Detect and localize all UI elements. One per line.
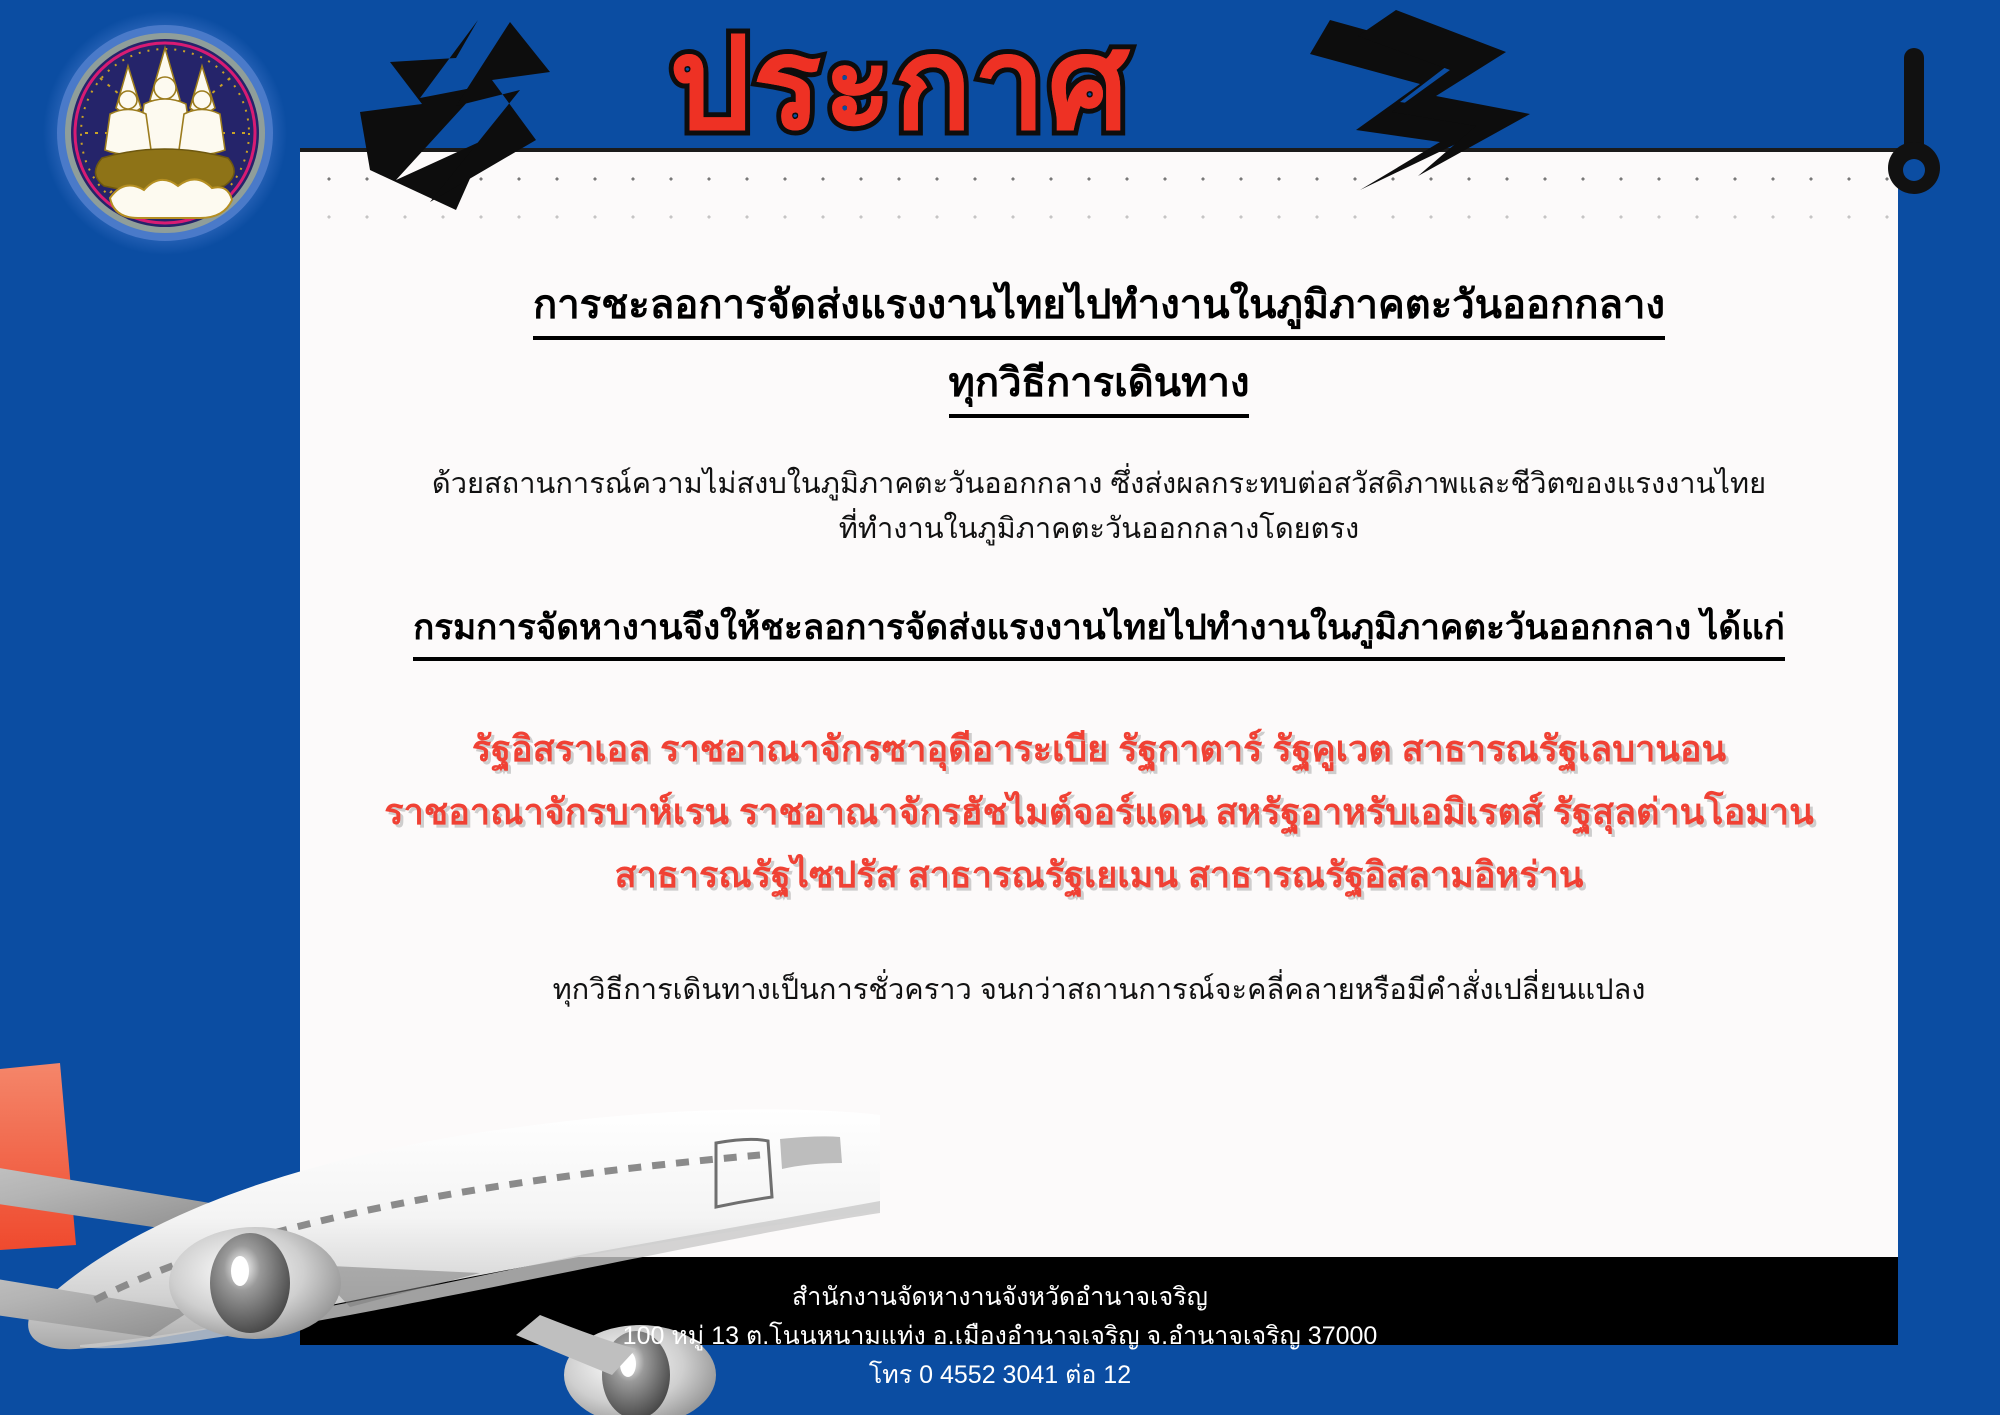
- intro-paragraph: ด้วยสถานการณ์ความไม่สงบในภูมิภาคตะวันออก…: [300, 462, 1898, 552]
- footer-address: 100 หมู่ 13 ต.โนนหนามแท่ง อ.เมืองอำนาจเจ…: [0, 1317, 2000, 1356]
- footer-contact: สำนักงานจัดหางานจังหวัดอำนาจเจริญ 100 หม…: [0, 1278, 2000, 1394]
- intro-paragraph-line-1: ด้วยสถานการณ์ความไม่สงบในภูมิภาคตะวันออก…: [300, 462, 1898, 507]
- subheading: กรมการจัดหางานจึงให้ชะลอการจัดส่งแรงงานไ…: [300, 600, 1898, 661]
- countries-line-3: สาธารณรัฐไซปรัส สาธารณรัฐเยเมน สาธารณรัฐ…: [300, 843, 1898, 906]
- countries-line-2: ราชอาณาจักรบาห์เรน ราชอาณาจักรฮัชไมต์จอร…: [300, 780, 1898, 843]
- closing-note: ทุกวิธีการเดินทางเป็นการชั่วคราว จนกว่าส…: [300, 966, 1898, 1012]
- headline-line-2-text: ทุกวิธีการเดินทาง: [949, 354, 1250, 418]
- poster-canvas: การชะลอการจัดส่งแรงงานไทยไปทำงานในภูมิภา…: [0, 0, 2000, 1415]
- headline-line-1: การชะลอการจัดส่งแรงงานไทยไปทำงานในภูมิภา…: [300, 276, 1898, 340]
- countries-list: รัฐอิสราเอล ราชอาณาจักรซาอุดีอาระเบีย รั…: [300, 717, 1898, 906]
- page-title: ประกาศ: [300, 18, 1500, 152]
- headline-line-2: ทุกวิธีการเดินทาง: [300, 354, 1898, 418]
- thermometer-pin-icon: [1880, 48, 1950, 203]
- footer-phone: โทร 0 4552 3041 ต่อ 12: [0, 1356, 2000, 1395]
- headline-line-1-text: การชะลอการจัดส่งแรงงานไทยไปทำงานในภูมิภา…: [533, 276, 1665, 340]
- provincial-seal-emblem: [40, 8, 290, 258]
- countries-line-1: รัฐอิสราเอล ราชอาณาจักรซาอุดีอาระเบีย รั…: [300, 717, 1898, 780]
- footer-office-name: สำนักงานจัดหางานจังหวัดอำนาจเจริญ: [0, 1278, 2000, 1317]
- intro-paragraph-line-2: ที่ทำงานในภูมิภาคตะวันออกกลางโดยตรง: [300, 507, 1898, 552]
- subheading-text: กรมการจัดหางานจึงให้ชะลอการจัดส่งแรงงานไ…: [413, 600, 1785, 661]
- title-block: ประกาศ ประกาศ: [300, 10, 1500, 180]
